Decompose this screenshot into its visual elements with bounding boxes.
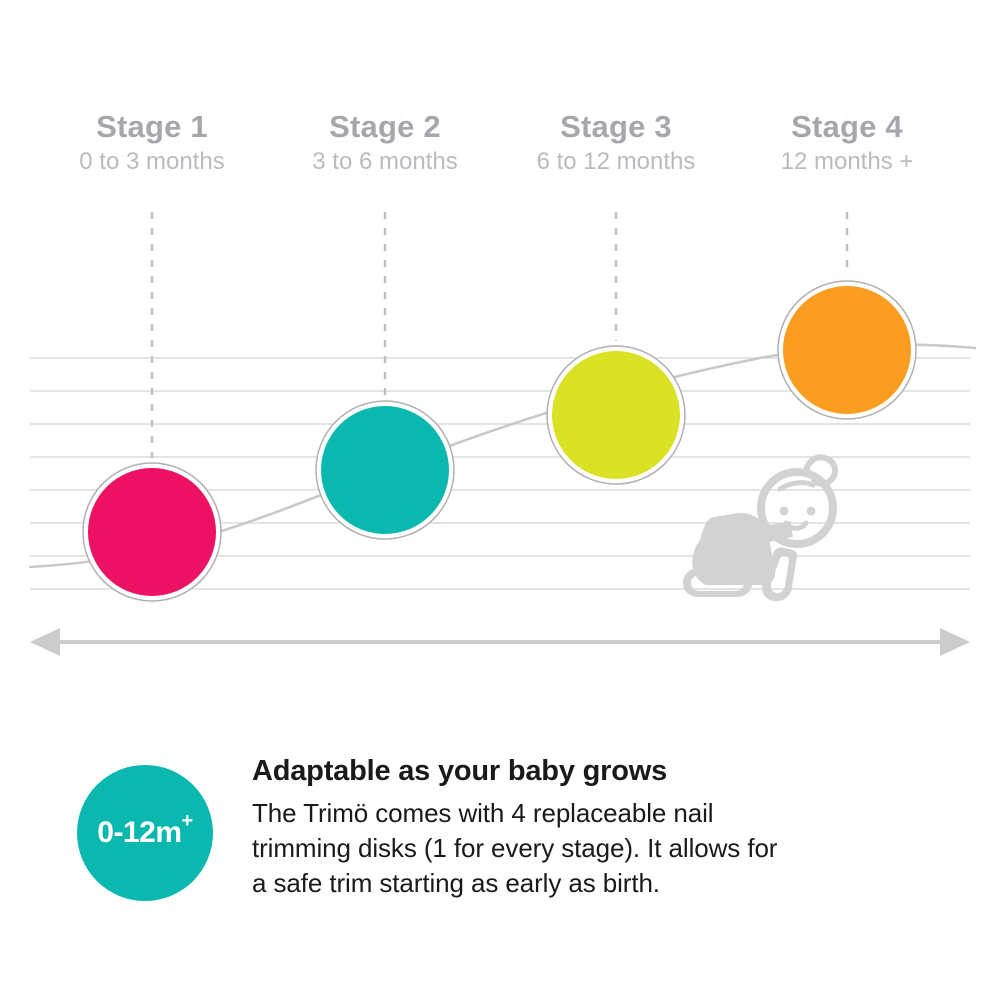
callout-section: 0-12m+ Adaptable as your baby grows The … (0, 735, 1000, 1000)
stage-connectors (152, 212, 847, 458)
stage-disk-1 (88, 468, 216, 596)
stage-disk-3 (552, 351, 680, 479)
growth-chart-graphic (0, 0, 1000, 700)
arrow-head-right (940, 628, 970, 656)
stage-circle-4[interactable] (778, 281, 916, 419)
arrow-head-left (30, 628, 60, 656)
callout-body-line-1: The Trimö comes with 4 replaceable nail (252, 796, 892, 831)
callout-body-line-3: a safe trim starting as early as birth. (252, 866, 892, 901)
age-range-badge-label: 0-12m+ (97, 816, 192, 850)
callout-headline: Adaptable as your baby grows (252, 752, 892, 790)
stage-circle-2[interactable] (316, 401, 454, 539)
age-range-badge-superscript: + (182, 810, 193, 832)
stage-circle-3[interactable] (547, 346, 685, 484)
growth-timeline-arrow (30, 628, 970, 656)
stage-disk-2 (321, 406, 449, 534)
stage-circle-1[interactable] (83, 463, 221, 601)
infographic-page: Stage 1 0 to 3 months Stage 2 3 to 6 mon… (0, 0, 1000, 1000)
age-range-badge-main: 0-12m (97, 816, 181, 849)
age-range-badge: 0-12m+ (77, 765, 213, 901)
callout-text-block: Adaptable as your baby grows The Trimö c… (252, 752, 892, 901)
callout-body-line-2: trimming disks (1 for every stage). It a… (252, 831, 892, 866)
stage-disk-4 (783, 286, 911, 414)
crawling-baby-icon (683, 457, 835, 601)
